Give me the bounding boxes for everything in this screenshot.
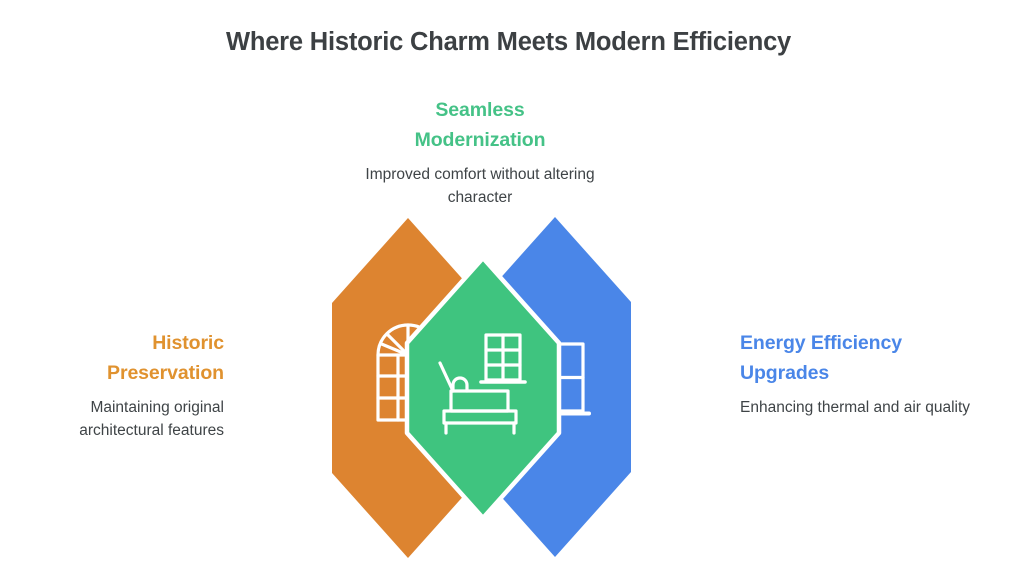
label-title-line-2: Modernization xyxy=(415,129,546,151)
label-desc-energy-efficiency-upgrades: Enhancing thermal and air quality xyxy=(740,396,972,419)
label-title-line-2: Preservation xyxy=(107,362,224,384)
page-title: Where Historic Charm Meets Modern Effici… xyxy=(0,25,1017,59)
label-historic-preservation: Historic Preservation Maintaining origin… xyxy=(18,328,224,442)
hexagon-venn-diagram xyxy=(250,205,770,570)
label-seamless-modernization: Seamless Modernization Improved comfort … xyxy=(334,95,626,209)
label-desc-seamless-modernization: Improved comfort without altering charac… xyxy=(334,163,626,209)
label-title-seamless-modernization: Seamless Modernization xyxy=(334,95,626,155)
label-energy-efficiency-upgrades: Energy Efficiency Upgrades Enhancing the… xyxy=(740,328,972,419)
label-title-line-1: Historic xyxy=(152,332,224,354)
label-desc-historic-preservation: Maintaining original architectural featu… xyxy=(18,396,224,442)
label-title-line-1: Seamless xyxy=(435,99,524,121)
label-title-historic-preservation: Historic Preservation xyxy=(18,328,224,388)
infographic-canvas: Where Historic Charm Meets Modern Effici… xyxy=(0,0,1017,585)
label-title-energy-efficiency-upgrades: Energy Efficiency Upgrades xyxy=(740,328,972,388)
